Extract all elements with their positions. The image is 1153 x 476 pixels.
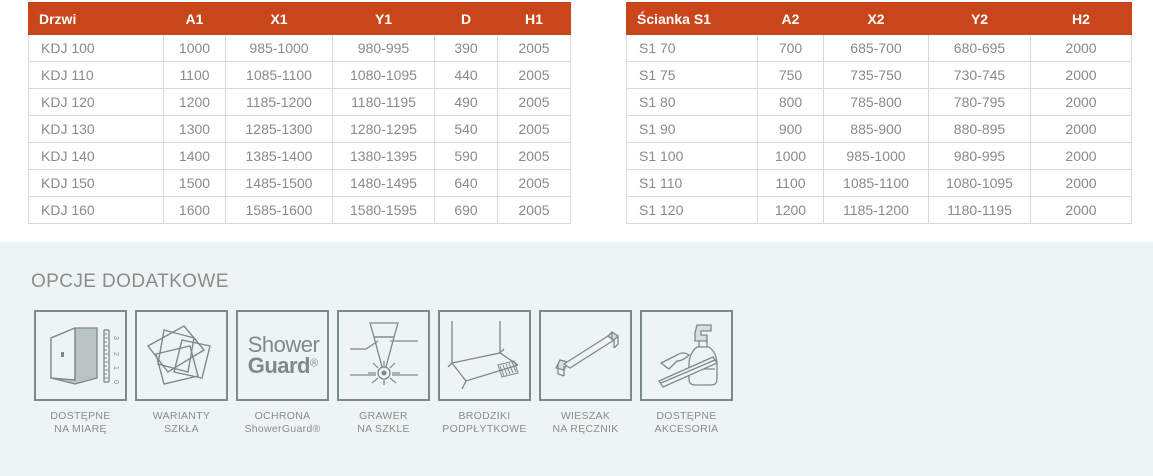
cell-y2: 680-695 (929, 35, 1031, 62)
cell-x2: 1085-1100 (824, 170, 929, 197)
table-drzwi-head: Drzwi A1 X1 Y1 D H1 (29, 3, 571, 35)
col-header-h2: H2 (1031, 3, 1132, 35)
col-header-y1: Y1 (333, 3, 435, 35)
cell-model: S1 110 (627, 170, 758, 197)
cell-y2: 980-995 (929, 143, 1031, 170)
option-caption: DOSTĘPNE AKCESORIA (655, 410, 719, 436)
cell-d: 540 (435, 116, 498, 143)
registered-mark-icon: ® (310, 358, 318, 370)
cell-h2: 2000 (1031, 197, 1132, 224)
cell-y2: 1180-1195 (929, 197, 1031, 224)
svg-text:1: 1 (112, 366, 119, 370)
cell-d: 640 (435, 170, 498, 197)
option-item-towel-rail[interactable]: WIESZAK NA RĘCZNIK (538, 310, 633, 436)
cell-x2: 685-700 (824, 35, 929, 62)
cell-y1: 1280-1295 (333, 116, 435, 143)
table-row: S1 110 1100 1085-1100 1080-1095 2000 (627, 170, 1132, 197)
cell-model: KDJ 150 (29, 170, 164, 197)
cell-a2: 700 (758, 35, 824, 62)
option-caption-line1: OCHRONA (255, 410, 311, 422)
col-header-scianka: Ścianka S1 (627, 3, 758, 35)
option-item-made-to-measure[interactable]: 3 2 1 0 DOSTĘPNE NA MIARĘ (33, 310, 128, 436)
cell-x1: 1285-1300 (226, 116, 333, 143)
option-caption-line2: SZKŁA (153, 423, 210, 436)
cell-a2: 1000 (758, 143, 824, 170)
table-row: KDJ 120 1200 1185-1200 1180-1195 490 200… (29, 89, 571, 116)
table-row: KDJ 100 1000 985-1000 980-995 390 2005 (29, 35, 571, 62)
option-caption-line1: GRAWER (359, 410, 408, 422)
table-row: KDJ 140 1400 1385-1400 1380-1395 590 200… (29, 143, 571, 170)
additional-options-panel: OPCJE DODATKOWE (0, 242, 1153, 476)
table-header-row: Ścianka S1 A2 X2 Y2 H2 (627, 3, 1132, 35)
svg-text:0: 0 (112, 380, 119, 384)
option-item-showerguard[interactable]: Shower Guard® OCHRONA ShowerGuard® (235, 310, 330, 436)
cell-a1: 1100 (164, 62, 226, 89)
option-caption: WIESZAK NA RĘCZNIK (552, 410, 618, 436)
cell-h1: 2005 (498, 116, 571, 143)
cell-h1: 2005 (498, 62, 571, 89)
cell-x2: 985-1000 (824, 143, 929, 170)
cell-x1: 1385-1400 (226, 143, 333, 170)
cell-d: 390 (435, 35, 498, 62)
spec-tables-zone: Drzwi A1 X1 Y1 D H1 KDJ 100 1000 985-100… (0, 0, 1153, 240)
cell-y1: 1580-1595 (333, 197, 435, 224)
cell-y1: 1380-1395 (333, 143, 435, 170)
cell-model: S1 120 (627, 197, 758, 224)
col-header-x1: X1 (226, 3, 333, 35)
engraving-tool-icon (337, 310, 430, 401)
option-caption-line1: BRODZIKI (459, 410, 511, 422)
cell-y2: 1080-1095 (929, 170, 1031, 197)
svg-text:2: 2 (112, 352, 119, 356)
option-caption-line2: AKCESORIA (655, 423, 719, 436)
cell-model: S1 90 (627, 116, 758, 143)
cell-h2: 2000 (1031, 62, 1132, 89)
table-row: S1 80 800 785-800 780-795 2000 (627, 89, 1132, 116)
cell-model: KDJ 110 (29, 62, 164, 89)
cell-model: S1 70 (627, 35, 758, 62)
option-caption-line2: PODPŁYTKOWE (442, 423, 526, 436)
cell-y1: 1480-1495 (333, 170, 435, 197)
cell-h2: 2000 (1031, 170, 1132, 197)
cell-a1: 1500 (164, 170, 226, 197)
cell-x2: 885-900 (824, 116, 929, 143)
shower-cabin-ruler-icon: 3 2 1 0 (34, 310, 127, 401)
table-row: KDJ 110 1100 1085-1100 1080-1095 440 200… (29, 62, 571, 89)
cell-x2: 785-800 (824, 89, 929, 116)
table-row: S1 90 900 885-900 880-895 2000 (627, 116, 1132, 143)
cell-h1: 2005 (498, 197, 571, 224)
cell-model: S1 80 (627, 89, 758, 116)
cell-x1: 1085-1100 (226, 62, 333, 89)
cell-h1: 2005 (498, 143, 571, 170)
col-header-y2: Y2 (929, 3, 1031, 35)
cell-h2: 2000 (1031, 89, 1132, 116)
table-row: S1 75 750 735-750 730-745 2000 (627, 62, 1132, 89)
cell-a1: 1200 (164, 89, 226, 116)
cell-y2: 730-745 (929, 62, 1031, 89)
option-item-accessories[interactable]: DOSTĘPNE AKCESORIA (639, 310, 734, 436)
spray-bottle-icon (640, 310, 733, 401)
cell-a1: 1600 (164, 197, 226, 224)
cell-model: KDJ 140 (29, 143, 164, 170)
showerguard-logo-icon: Shower Guard® (236, 310, 329, 401)
cell-d: 490 (435, 89, 498, 116)
cell-a2: 1100 (758, 170, 824, 197)
cell-a1: 1400 (164, 143, 226, 170)
options-title: OPCJE DODATKOWE (31, 271, 229, 293)
table-drzwi-body: KDJ 100 1000 985-1000 980-995 390 2005 K… (29, 35, 571, 224)
cell-h2: 2000 (1031, 35, 1132, 62)
cell-a2: 900 (758, 116, 824, 143)
option-caption-line2: NA MIARĘ (50, 423, 110, 436)
cell-h2: 2000 (1031, 116, 1132, 143)
cell-y1: 980-995 (333, 35, 435, 62)
option-caption-line2: NA RĘCZNIK (552, 423, 618, 436)
cell-a2: 800 (758, 89, 824, 116)
cell-x2: 735-750 (824, 62, 929, 89)
cell-a1: 1000 (164, 35, 226, 62)
cell-a1: 1300 (164, 116, 226, 143)
option-item-glass-engraving[interactable]: GRAWER NA SZKLE (336, 310, 431, 436)
cell-y2: 880-895 (929, 116, 1031, 143)
option-caption: GRAWER NA SZKLE (357, 410, 410, 436)
option-item-shower-tray[interactable]: BRODZIKI PODPŁYTKOWE (437, 310, 532, 436)
col-header-a2: A2 (758, 3, 824, 35)
cell-d: 440 (435, 62, 498, 89)
cell-x1: 1185-1200 (226, 89, 333, 116)
col-header-x2: X2 (824, 3, 929, 35)
cell-h1: 2005 (498, 170, 571, 197)
cell-y1: 1180-1195 (333, 89, 435, 116)
table-scianka-head: Ścianka S1 A2 X2 Y2 H2 (627, 3, 1132, 35)
options-icon-row: 3 2 1 0 DOSTĘPNE NA MIARĘ (33, 310, 734, 436)
showerguard-word-shower: Shower (248, 334, 320, 356)
option-caption: BRODZIKI PODPŁYTKOWE (442, 410, 526, 436)
col-header-a1: A1 (164, 3, 226, 35)
cell-h2: 2000 (1031, 143, 1132, 170)
cell-h1: 2005 (498, 35, 571, 62)
cell-model: KDJ 160 (29, 197, 164, 224)
glass-panes-icon (135, 310, 228, 401)
cell-x1: 1485-1500 (226, 170, 333, 197)
cell-x1: 1585-1600 (226, 197, 333, 224)
table-scianka-body: S1 70 700 685-700 680-695 2000 S1 75 750… (627, 35, 1132, 224)
table-row: S1 100 1000 985-1000 980-995 2000 (627, 143, 1132, 170)
option-caption: WARIANTY SZKŁA (153, 410, 210, 436)
option-caption-line1: WIESZAK (561, 410, 610, 422)
col-header-h1: H1 (498, 3, 571, 35)
table-row: S1 70 700 685-700 680-695 2000 (627, 35, 1132, 62)
cell-x1: 985-1000 (226, 35, 333, 62)
option-item-glass-variants[interactable]: WARIANTY SZKŁA (134, 310, 229, 436)
svg-text:3: 3 (112, 336, 119, 340)
cell-model: S1 75 (627, 62, 758, 89)
cell-model: KDJ 120 (29, 89, 164, 116)
table-row: KDJ 130 1300 1285-1300 1280-1295 540 200… (29, 116, 571, 143)
option-caption-line1: DOSTĘPNE (50, 410, 110, 422)
table-drzwi: Drzwi A1 X1 Y1 D H1 KDJ 100 1000 985-100… (28, 2, 571, 224)
col-header-d: D (435, 3, 498, 35)
option-caption: OCHRONA ShowerGuard® (244, 410, 320, 436)
cell-d: 590 (435, 143, 498, 170)
table-header-row: Drzwi A1 X1 Y1 D H1 (29, 3, 571, 35)
towel-rail-icon (539, 310, 632, 401)
table-row: KDJ 150 1500 1485-1500 1480-1495 640 200… (29, 170, 571, 197)
col-header-drzwi: Drzwi (29, 3, 164, 35)
shower-tray-icon (438, 310, 531, 401)
showerguard-word-guard: Guard (248, 353, 310, 378)
option-caption: DOSTĘPNE NA MIARĘ (50, 410, 110, 436)
cell-model: S1 100 (627, 143, 758, 170)
option-caption-line2: NA SZKLE (357, 423, 410, 436)
cell-x2: 1185-1200 (824, 197, 929, 224)
cell-model: KDJ 130 (29, 116, 164, 143)
table-row: KDJ 160 1600 1585-1600 1580-1595 690 200… (29, 197, 571, 224)
cell-a2: 750 (758, 62, 824, 89)
option-caption-line1: DOSTĘPNE (656, 410, 716, 422)
option-caption-line1: WARIANTY (153, 410, 210, 422)
cell-h1: 2005 (498, 89, 571, 116)
table-row: S1 120 1200 1185-1200 1180-1195 2000 (627, 197, 1132, 224)
cell-y1: 1080-1095 (333, 62, 435, 89)
cell-y2: 780-795 (929, 89, 1031, 116)
option-caption-line2: ShowerGuard® (244, 423, 320, 436)
showerguard-wordmark: Shower Guard® (246, 334, 320, 377)
cell-a2: 1200 (758, 197, 824, 224)
cell-model: KDJ 100 (29, 35, 164, 62)
cell-d: 690 (435, 197, 498, 224)
table-scianka-s1: Ścianka S1 A2 X2 Y2 H2 S1 70 700 685-700… (626, 2, 1132, 224)
